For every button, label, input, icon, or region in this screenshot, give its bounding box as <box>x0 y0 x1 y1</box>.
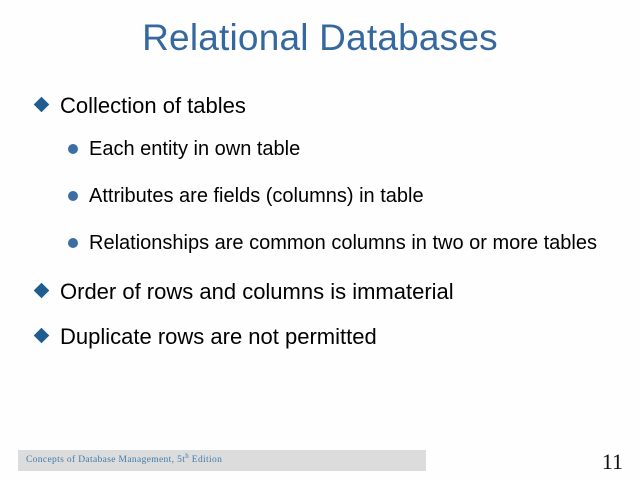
footer-citation-prefix: Concepts of Database Management, 5t <box>26 455 185 465</box>
diamond-bullet-icon <box>34 97 50 113</box>
dot-bullet-icon <box>68 144 78 154</box>
page-number: 11 <box>602 449 623 475</box>
list-item: Order of rows and columns is immaterial <box>0 278 640 305</box>
list-item: Relationships are common columns in two … <box>0 231 640 256</box>
list-item: Collection of tables <box>0 92 640 119</box>
page-title: Relational Databases <box>0 16 640 60</box>
dot-bullet-icon <box>68 191 78 201</box>
footer-citation: Concepts of Database Management, 5th Edi… <box>26 454 222 467</box>
list-item: Attributes are fields (columns) in table <box>0 184 640 209</box>
list-item: Each entity in own table <box>0 137 640 162</box>
list-item-label: Order of rows and columns is immaterial <box>60 278 454 305</box>
list-item-label: Attributes are fields (columns) in table <box>89 184 424 209</box>
list-item-label: Each entity in own table <box>89 137 300 162</box>
bullet-list: Collection of tables Each entity in own … <box>0 92 640 368</box>
footer-citation-suffix: Edition <box>189 455 222 465</box>
list-item-label: Relationships are common columns in two … <box>89 231 597 256</box>
list-item-label: Duplicate rows are not permitted <box>60 323 377 350</box>
list-item-label: Collection of tables <box>60 92 246 119</box>
diamond-bullet-icon <box>34 328 50 344</box>
dot-bullet-icon <box>68 238 78 248</box>
diamond-bullet-icon <box>34 283 50 299</box>
slide: Relational Databases Collection of table… <box>0 0 640 480</box>
list-item: Duplicate rows are not permitted <box>0 323 640 350</box>
